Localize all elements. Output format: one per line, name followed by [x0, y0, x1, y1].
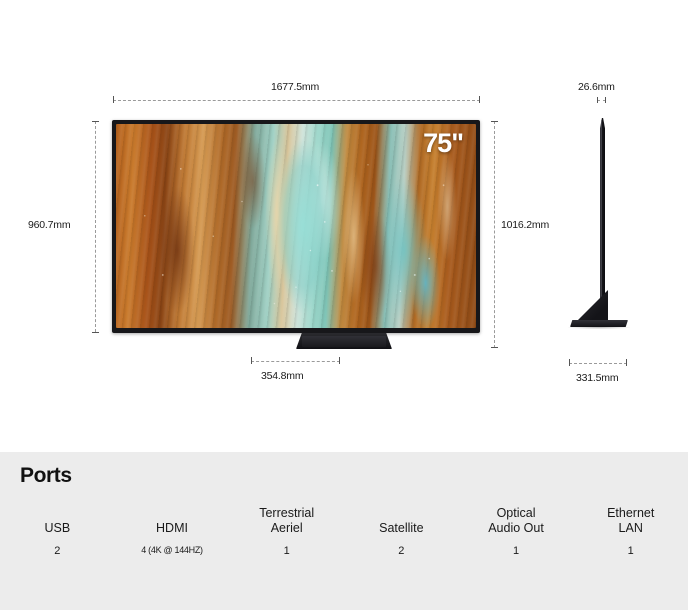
- ports-column: Optical Audio Out1: [459, 504, 574, 557]
- dimension-stand-depth-tick-left: [569, 359, 570, 366]
- ports-column-value: 1: [284, 545, 290, 557]
- ports-column-label: Terrestrial Aeriel: [259, 504, 314, 536]
- ports-column: Terrestrial Aeriel1: [229, 504, 344, 557]
- ports-table: USB2HDMI4 (4K @ 144HZ)Terrestrial Aeriel…: [0, 504, 688, 557]
- screen-size-badge: 75": [423, 130, 463, 157]
- ports-title: Ports: [20, 464, 72, 488]
- ports-column-label: Satellite: [379, 504, 423, 536]
- ports-column: USB2: [0, 504, 115, 557]
- ports-column: HDMI4 (4K @ 144HZ): [115, 504, 230, 557]
- dimension-stand-width-tick-left: [251, 357, 252, 364]
- dimension-stand-depth-line: [569, 363, 627, 364]
- dimension-front-height-line: [95, 121, 96, 332]
- dimension-front-width-label: 1677.5mm: [271, 81, 319, 93]
- dimension-stand-width-label: 354.8mm: [261, 370, 303, 382]
- dimension-front-height-tick-top: [92, 121, 99, 122]
- dimension-front-width-tick-right: [479, 96, 480, 103]
- dimension-front-width-line: [113, 100, 480, 101]
- dimension-diagram: 1677.5mm 960.7mm 1016.2mm 354.8mm 26.6mm…: [0, 0, 688, 452]
- tv-side-stand-shadow: [568, 326, 630, 329]
- ports-column-label: Ethernet LAN: [607, 504, 654, 536]
- ports-column-value: 2: [54, 545, 60, 557]
- dimension-total-height-line: [494, 121, 495, 348]
- ports-column-value: 2: [398, 545, 404, 557]
- product-spec-page: 1677.5mm 960.7mm 1016.2mm 354.8mm 26.6mm…: [0, 0, 688, 610]
- dimension-front-width-tick-left: [113, 96, 114, 103]
- tv-screen-wallpaper: 75": [116, 124, 476, 328]
- dimension-side-depth-tick-left: [597, 97, 598, 103]
- ports-column-value: 4 (4K @ 144HZ): [141, 545, 202, 555]
- ports-column: Satellite2: [344, 504, 459, 557]
- tv-side-panel-edge: [601, 120, 602, 320]
- tv-side-view: [556, 118, 648, 350]
- ports-column-label: Optical Audio Out: [488, 504, 544, 536]
- dimension-stand-width-tick-right: [339, 357, 340, 364]
- ports-column-label: USB: [44, 504, 70, 536]
- dimension-total-height-tick-top: [491, 121, 498, 122]
- tv-front-view: 75": [112, 120, 480, 333]
- dimension-stand-depth-label: 331.5mm: [576, 372, 618, 384]
- ports-column-value: 1: [513, 545, 519, 557]
- ports-column-label: HDMI: [156, 504, 188, 536]
- dimension-side-depth-label: 26.6mm: [578, 81, 615, 93]
- dimension-total-height-label: 1016.2mm: [501, 219, 549, 231]
- dimension-total-height-tick-bottom: [491, 347, 498, 348]
- dimension-front-height-label: 960.7mm: [28, 219, 70, 231]
- dimension-stand-depth-tick-right: [626, 359, 627, 366]
- tv-stand-pedestal-inner: [302, 336, 386, 347]
- ports-section: Ports USB2HDMI4 (4K @ 144HZ)Terrestrial …: [0, 452, 688, 610]
- dimension-front-height-tick-bottom: [92, 332, 99, 333]
- ports-column: Ethernet LAN1: [573, 504, 688, 557]
- dimension-side-depth-tick-right: [605, 97, 606, 103]
- dimension-stand-width-line: [251, 361, 340, 362]
- ports-column-value: 1: [628, 545, 634, 557]
